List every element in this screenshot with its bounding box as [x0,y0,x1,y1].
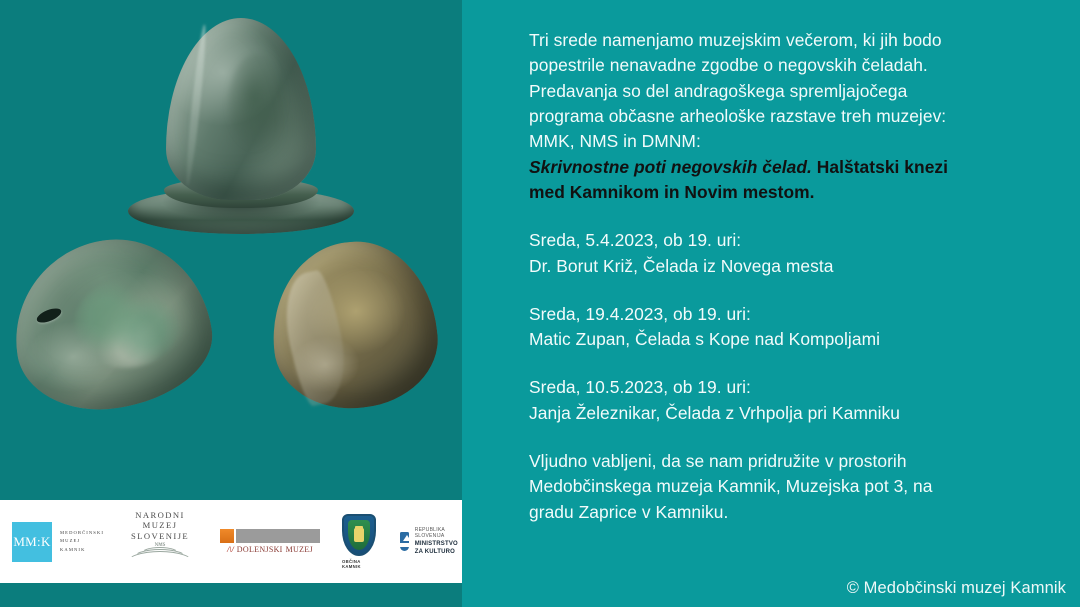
helmet-top-dome [166,18,316,200]
obcina-kamnik-shield-inner [348,520,370,550]
nms-arc-4 [159,543,161,544]
poster-root: MM:K MEDOBČINSKI MUZEJ KAMNIK NARODNI MU… [0,0,1080,607]
helmet-bottom-left-cup [3,227,220,421]
helmet-bottom-right [248,232,444,420]
ministrstvo-line-2: MINISTRSTVO ZA KULTURO [415,540,462,556]
logo-dolenjski-muzej: /\/ DOLENJSKI MUZEJ [220,529,320,554]
invitation-line-2: Medobčinskega muzeja Kamnik, Muzejska po… [529,476,933,496]
left-image-panel: MM:K MEDOBČINSKI MUZEJ KAMNIK NARODNI MU… [0,0,462,607]
nms-line-2: MUZEJ [131,520,189,530]
helmet-bottom-right-cup [264,234,444,416]
nms-line-3: SLOVENIJE [131,531,189,541]
obcina-kamnik-label: OBČINA KAMNIK [342,559,376,569]
ministrstvo-wordmark: REPUBLIKA SLOVENIJA MINISTRSTVO ZA KULTU… [415,527,462,557]
nms-wordmark: NARODNI MUZEJ SLOVENIJE [131,510,189,541]
logo-obcina-kamnik: OBČINA KAMNIK [342,514,376,569]
mmk-wordmark: MEDOBČINSKI MUZEJ KAMNIK [60,529,104,553]
exhibition-title: Skrivnostne poti negovskih čelad. Halšta… [529,157,948,177]
exhibition-title-bold: Halštatski knezi [812,157,948,177]
event-3-what: Janja Železnikar, Čelada z Vrhpolja pri … [529,403,900,423]
dm-colorbar [220,529,320,543]
helmet-top [128,18,354,233]
dm-orange-block [220,529,234,543]
obcina-kamnik-shield-icon [342,514,376,556]
copyright-notice: © Medobčinski muzej Kamnik [847,579,1066,598]
ministrstvo-line-1: REPUBLIKA SLOVENIJA [415,527,462,541]
intro-paragraph: Tri srede namenjamo muzejskim večerom, k… [529,28,1060,205]
dm-mark-icon: /\/ [227,545,234,554]
event-1-what: Dr. Borut Križ, Čelada iz Novega mesta [529,256,833,276]
event-3: Sreda, 10.5.2023, ob 19. uri: Janja Žele… [529,375,1060,426]
mmk-mark: MM:K [12,522,52,562]
dm-wordmark: /\/ DOLENJSKI MUZEJ [227,545,313,554]
event-2-when: Sreda, 19.4.2023, ob 19. uri: [529,304,751,324]
exhibition-title-line-2: med Kamnikom in Novim mestom. [529,182,815,202]
obcina-kamnik-castle-icon [354,528,364,542]
intro-line-1: Tri srede namenjamo muzejskim večerom, k… [529,30,942,50]
intro-line-4: programa občasne arheološke razstave tre… [529,106,946,126]
mmk-word-1: MEDOBČINSKI [60,529,104,537]
event-1: Sreda, 5.4.2023, ob 19. uri: Dr. Borut K… [529,228,1060,279]
helmets-photo [0,0,462,500]
dm-name-1: DOLENJSKI [237,545,283,554]
slovenia-flag-icon [400,532,409,551]
intro-line-2: popestrile nenavadne zgodbe o negovskih … [529,55,928,75]
mmk-word-2: MUZEJ [60,537,104,545]
nms-arc-icon: NMS [122,543,198,573]
logo-narodni-muzej-slovenije: NARODNI MUZEJ SLOVENIJE NMS [122,510,198,573]
right-text-panel: Tri srede namenjamo muzejskim večerom, k… [462,0,1080,607]
event-1-when: Sreda, 5.4.2023, ob 19. uri: [529,230,741,250]
left-bottom-strip [0,583,462,607]
helmet-ridge [276,268,354,408]
mmk-word-3: KAMNIK [60,546,104,554]
helmet-bottom-left [6,228,234,418]
nms-line-1: NARODNI [131,510,189,520]
event-2-what: Matic Zupan, Čelada s Kope nad Kompoljam… [529,329,880,349]
dm-name-2: MUZEJ [286,545,313,554]
dm-grey-block [236,529,320,543]
event-2: Sreda, 19.4.2023, ob 19. uri: Matic Zupa… [529,302,1060,353]
nms-arc-3 [126,551,194,575]
invitation-line-1: Vljudno vabljeni, da se nam pridružite v… [529,451,907,471]
invitation-line-3: gradu Zaprice v Kamniku. [529,502,728,522]
announcement-text: Tri srede namenjamo muzejskim večerom, k… [529,28,1060,525]
exhibition-title-italic: Skrivnostne poti negovskih čelad. [529,157,812,177]
sponsor-logo-bar: MM:K MEDOBČINSKI MUZEJ KAMNIK NARODNI MU… [0,500,462,583]
helmet-patina [68,270,189,374]
event-3-when: Sreda, 10.5.2023, ob 19. uri: [529,377,751,397]
intro-line-5: MMK, NMS in DMNM: [529,131,701,151]
invitation-paragraph: Vljudno vabljeni, da se nam pridružite v… [529,449,1060,525]
logo-medobcinski-muzej-kamnik: MM:K MEDOBČINSKI MUZEJ KAMNIK [12,522,104,562]
intro-line-3: Predavanja so del andragoškega spremljaj… [529,81,907,101]
logo-ministrstvo-za-kulturo: REPUBLIKA SLOVENIJA MINISTRSTVO ZA KULTU… [400,527,462,557]
